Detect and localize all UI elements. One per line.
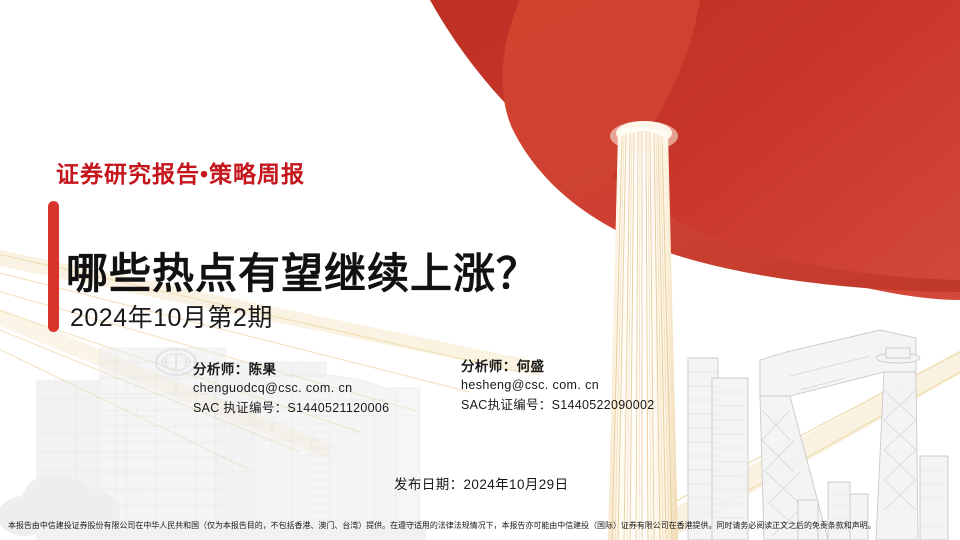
footer-disclaimer: 本报告由中信建投证券股份有限公司在中华人民共和国（仅为本报告目的，不包括香港、澳… — [8, 521, 947, 531]
analyst-name: 分析师：何盛 — [461, 355, 655, 375]
report-kicker: 证券研究报告•策略周报 — [56, 155, 305, 189]
analyst-card-1: 分析师：陈果 chenguodcq@csc. com. cn SAC 执证编号：… — [193, 358, 389, 416]
analyst-sac-id: SAC 执证编号：S1440521120006 — [193, 397, 389, 416]
report-cover-slide: 证券研究报告•策略周报 哪些热点有望继续上涨？ 2024年10月第2期 分析师：… — [0, 0, 960, 540]
publish-date: 发布日期：2024年10月29日 — [394, 473, 568, 493]
analyst-name: 分析师：陈果 — [193, 358, 389, 378]
analyst-card-2: 分析师：何盛 hesheng@csc. com. cn SAC执证编号：S144… — [461, 355, 655, 413]
page-title: 哪些热点有望继续上涨？ — [66, 240, 539, 301]
title-accent-bar — [48, 201, 59, 332]
issue-subtitle: 2024年10月第2期 — [70, 298, 273, 334]
analyst-email[interactable]: chenguodcq@csc. com. cn — [193, 381, 389, 395]
analyst-email[interactable]: hesheng@csc. com. cn — [461, 378, 655, 392]
analyst-sac-id: SAC执证编号：S1440522090002 — [461, 394, 655, 413]
